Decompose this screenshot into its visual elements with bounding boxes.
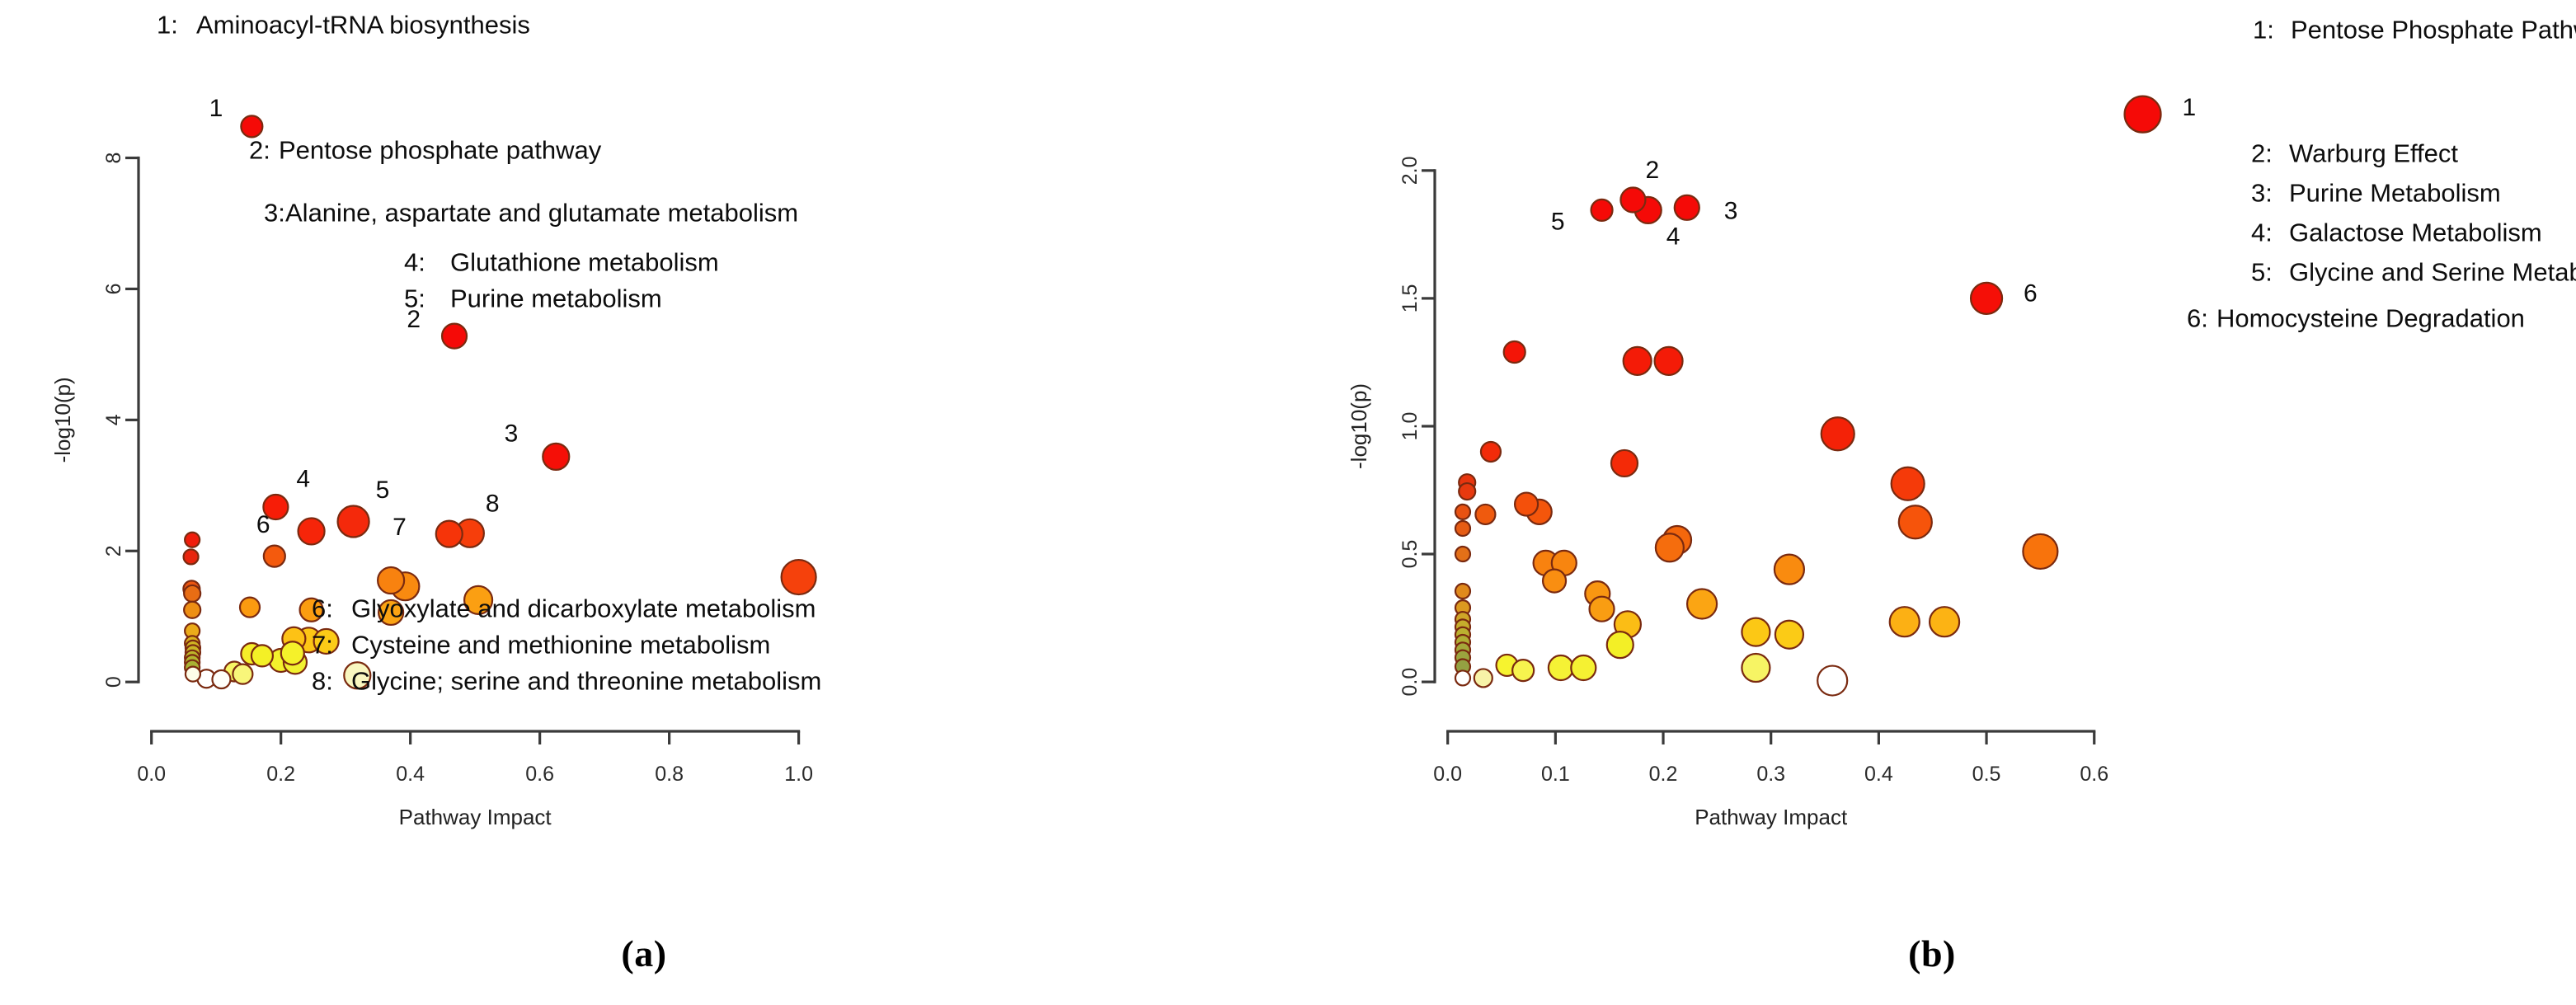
- scatter-point[interactable]: [1455, 670, 1470, 685]
- legend-number-4: 4:: [2251, 218, 2273, 247]
- scatter-point[interactable]: [1611, 450, 1638, 477]
- scatter-point[interactable]: [1481, 442, 1501, 462]
- scatter-point-labeled[interactable]: [1675, 195, 1699, 220]
- panel-b: 0.00.51.01.52.0-log10(p)0.00.10.20.30.40…: [1288, 0, 2576, 1005]
- legend-label-3: Purine Metabolism: [2289, 179, 2501, 208]
- scatter-point[interactable]: [1512, 660, 1534, 681]
- x-tick-label: 0.3: [1756, 763, 1785, 786]
- panel-b-scatter-plot: 0.00.51.01.52.0-log10(p)0.00.10.20.30.40…: [1288, 0, 2576, 866]
- point-number-6: 6: [256, 511, 270, 538]
- legend-label-1: Aminoacyl-tRNA biosynthesis: [196, 11, 530, 40]
- legend-label-2: Pentose phosphate pathway: [279, 136, 602, 165]
- legend-number-5: 5:: [404, 284, 425, 313]
- scatter-point[interactable]: [1543, 570, 1566, 593]
- legend-number-2: 2:: [2251, 139, 2273, 168]
- x-tick-label: 0.8: [655, 763, 684, 786]
- point-number-5: 5: [1551, 208, 1565, 235]
- scatter-point[interactable]: [212, 670, 230, 688]
- scatter-point-labeled[interactable]: [543, 444, 569, 470]
- legend-number-6: 6:: [312, 594, 333, 623]
- x-tick-label: 0.4: [396, 763, 425, 786]
- panel-b-caption: (b): [1288, 932, 2576, 975]
- x-tick-label: 0.2: [1649, 763, 1678, 786]
- scatter-point-labeled[interactable]: [241, 115, 262, 137]
- scatter-point[interactable]: [233, 665, 252, 684]
- scatter-point[interactable]: [782, 560, 816, 594]
- scatter-point-labeled[interactable]: [338, 506, 369, 538]
- legend-label-2: Warburg Effect: [2289, 139, 2458, 168]
- y-axis: 0.00.51.01.52.0-log10(p): [1347, 156, 1435, 696]
- scatter-point[interactable]: [264, 546, 285, 567]
- scatter-point[interactable]: [2023, 534, 2057, 569]
- scatter-point-labeled[interactable]: [442, 324, 467, 349]
- panel-a-scatter-plot: 02468-log10(p)0.00.20.40.60.81.0Pathway …: [0, 0, 1288, 866]
- scatter-point[interactable]: [1504, 341, 1525, 363]
- x-axis-title: Pathway Impact: [1695, 805, 1848, 829]
- point-number-2: 2: [1645, 157, 1659, 184]
- scatter-point[interactable]: [1455, 547, 1470, 561]
- y-axis-title: -log10(p): [1347, 383, 1371, 469]
- scatter-point[interactable]: [184, 585, 200, 602]
- x-tick-label: 0.5: [1972, 763, 2001, 786]
- legend-number-3: 3:: [2251, 179, 2273, 208]
- scatter-point[interactable]: [1775, 621, 1803, 649]
- scatter-point[interactable]: [1590, 597, 1615, 622]
- x-tick-label: 0.6: [525, 763, 554, 786]
- point-number-4: 4: [1666, 223, 1681, 250]
- x-tick-label: 0.0: [1433, 763, 1462, 786]
- pathway-analysis-figure: 02468-log10(p)0.00.20.40.60.81.0Pathway …: [0, 0, 2576, 1005]
- legend-number-4: 4:: [404, 248, 425, 277]
- y-tick-label: 2: [102, 545, 125, 557]
- y-tick-label: 6: [102, 283, 125, 294]
- point-number-3: 3: [505, 420, 519, 447]
- scatter-point[interactable]: [1655, 347, 1683, 375]
- scatter-point[interactable]: [281, 641, 304, 665]
- scatter-point[interactable]: [186, 667, 200, 682]
- point-number-6: 6: [2024, 279, 2038, 307]
- legend-label-1: Pentose Phosphate Pathway: [2291, 16, 2576, 45]
- y-axis-title: -log10(p): [50, 377, 75, 463]
- point-number-4: 4: [296, 466, 310, 493]
- legend-label-4: Glutathione metabolism: [450, 248, 719, 277]
- scatter-point-labeled[interactable]: [1620, 188, 1645, 213]
- point-number-1: 1: [2183, 94, 2197, 121]
- scatter-point[interactable]: [1475, 505, 1495, 524]
- panel-a: 02468-log10(p)0.00.20.40.60.81.0Pathway …: [0, 0, 1288, 1005]
- scatter-point[interactable]: [1624, 347, 1652, 375]
- scatter-point[interactable]: [251, 645, 273, 666]
- legend-number-1: 1:: [2253, 16, 2274, 45]
- y-tick-label: 8: [102, 153, 125, 164]
- legend-number-3: 3:: [264, 199, 285, 228]
- legend-label-8: Glycine; serine and threonine metabolism: [351, 667, 821, 696]
- legend-label-3: Alanine, aspartate and glutamate metabol…: [285, 199, 798, 228]
- y-tick-label: 1.5: [1398, 284, 1422, 313]
- scatter-point[interactable]: [1899, 505, 1932, 538]
- scatter-point[interactable]: [1892, 467, 1925, 500]
- point-number-8: 8: [486, 490, 500, 517]
- legend-label-6: Glyoxylate and dicarboxylate metabolism: [351, 594, 816, 623]
- scatter-point[interactable]: [1515, 493, 1538, 516]
- scatter-point[interactable]: [1890, 607, 1920, 636]
- x-tick-label: 0.4: [1864, 763, 1893, 786]
- point-number-7: 7: [393, 514, 407, 541]
- scatter-point[interactable]: [1455, 521, 1470, 536]
- x-tick-label: 1.0: [784, 763, 813, 786]
- y-tick-label: 0.0: [1398, 668, 1422, 697]
- scatter-point[interactable]: [1687, 589, 1717, 619]
- scatter-point[interactable]: [1549, 655, 1573, 680]
- legend: 1:Pentose Phosphate Pathway2:Warburg Eff…: [2187, 16, 2576, 333]
- scatter-point[interactable]: [1571, 655, 1596, 680]
- legend-number-6: 6:: [2187, 304, 2208, 333]
- scatter-point-labeled[interactable]: [2125, 96, 2161, 133]
- legend-number-7: 7:: [312, 631, 333, 660]
- scatter-point-labeled[interactable]: [1971, 283, 2002, 314]
- x-tick-label: 0.0: [137, 763, 166, 786]
- legend-label-5: Purine metabolism: [450, 284, 662, 313]
- legend-label-6: Homocysteine Degradation: [2216, 304, 2525, 333]
- point-number-5: 5: [376, 477, 390, 504]
- x-axis: 0.00.20.40.60.81.0Pathway Impact: [137, 731, 813, 829]
- legend-label-7: Cysteine and methionine metabolism: [351, 631, 770, 660]
- scatter-point[interactable]: [185, 533, 200, 547]
- y-tick-label: 0.5: [1398, 540, 1422, 569]
- scatter-point[interactable]: [1459, 483, 1475, 500]
- scatter-point-labeled[interactable]: [1591, 200, 1613, 221]
- scatter-point[interactable]: [1656, 533, 1684, 561]
- x-axis: 0.00.10.20.30.40.50.6Pathway Impact: [1433, 731, 2108, 829]
- scatter-point[interactable]: [1822, 417, 1854, 450]
- scatter-point[interactable]: [1742, 618, 1770, 646]
- x-tick-label: 0.1: [1541, 763, 1570, 786]
- scatter-point[interactable]: [184, 549, 199, 564]
- scatter-point[interactable]: [1775, 555, 1804, 585]
- y-tick-label: 4: [102, 414, 125, 425]
- scatter-point[interactable]: [1455, 505, 1470, 519]
- panel-a-caption: (a): [0, 932, 1288, 975]
- scatter-point[interactable]: [240, 598, 260, 618]
- scatter-point[interactable]: [1455, 584, 1470, 599]
- scatter-point[interactable]: [378, 567, 404, 594]
- y-tick-label: 1.0: [1398, 412, 1422, 441]
- x-axis-title: Pathway Impact: [399, 805, 552, 829]
- legend-label-5: Glycine and Serine Metabolism: [2289, 258, 2576, 287]
- scatter-points: [1455, 96, 2161, 696]
- y-axis: 02468-log10(p): [50, 153, 139, 688]
- point-number-3: 3: [1724, 197, 1738, 224]
- x-tick-label: 0.2: [266, 763, 295, 786]
- legend-number-5: 5:: [2251, 258, 2273, 287]
- scatter-point[interactable]: [1742, 654, 1770, 682]
- scatter-point[interactable]: [184, 602, 200, 618]
- scatter-point-labeled[interactable]: [436, 521, 463, 547]
- y-tick-label: 2.0: [1398, 156, 1422, 185]
- legend-number-2: 2:: [249, 136, 270, 165]
- legend-number-8: 8:: [312, 667, 333, 696]
- x-tick-label: 0.6: [2080, 763, 2108, 786]
- scatter-point[interactable]: [1817, 666, 1847, 696]
- scatter-point[interactable]: [1474, 669, 1492, 687]
- scatter-point[interactable]: [1930, 607, 1959, 636]
- legend-number-1: 1:: [157, 11, 178, 40]
- point-number-1: 1: [209, 95, 223, 122]
- scatter-point[interactable]: [1607, 632, 1634, 658]
- legend-label-4: Galactose Metabolism: [2289, 218, 2542, 247]
- y-tick-label: 0: [102, 676, 125, 688]
- scatter-point-labeled[interactable]: [298, 518, 325, 544]
